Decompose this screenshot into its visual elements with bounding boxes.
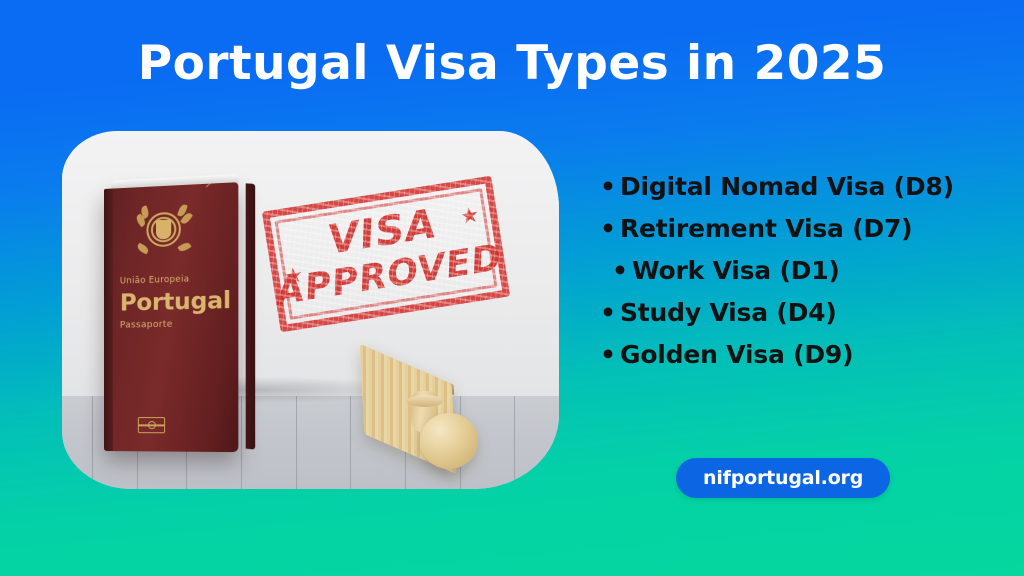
list-item-label: Work Visa (D1) bbox=[632, 256, 840, 285]
visa-types-list: •Digital Nomad Visa (D8)•Retirement Visa… bbox=[600, 172, 1000, 382]
passport-spine bbox=[104, 189, 113, 452]
list-item: •Digital Nomad Visa (D8) bbox=[600, 172, 1000, 201]
portugal-passport: União Europeia Portugal Passaporte bbox=[104, 182, 247, 452]
passport-union-label: União Europeia bbox=[120, 274, 189, 286]
bullet-dot-icon: • bbox=[612, 258, 632, 283]
passport-photo-card: União Europeia Portugal Passaporte ★ ★ V… bbox=[62, 131, 559, 489]
passport-cover: União Europeia Portugal Passaporte bbox=[104, 182, 238, 452]
passport-country-label: Portugal bbox=[120, 287, 231, 316]
infographic-canvas: Portugal Visa Types in 2025 bbox=[0, 0, 1024, 576]
list-item-label: Golden Visa (D9) bbox=[620, 340, 853, 369]
list-item: •Work Visa (D1) bbox=[600, 256, 1000, 285]
list-item-label: Retirement Visa (D7) bbox=[620, 214, 912, 243]
list-item-label: Digital Nomad Visa (D8) bbox=[620, 172, 954, 201]
stamp-collar bbox=[407, 395, 443, 407]
site-badge[interactable]: nifportugal.org bbox=[676, 458, 890, 498]
biometric-chip-icon bbox=[138, 417, 165, 433]
stamp-handle-knob bbox=[420, 413, 478, 469]
list-item: •Study Visa (D4) bbox=[600, 298, 1000, 327]
list-item: •Retirement Visa (D7) bbox=[600, 214, 1000, 243]
wooden-rubber-stamp bbox=[362, 357, 510, 469]
coat-of-arms-icon bbox=[136, 202, 191, 257]
passport-edge bbox=[246, 183, 255, 449]
list-item: •Golden Visa (D9) bbox=[600, 340, 1000, 369]
bullet-dot-icon: • bbox=[600, 342, 620, 367]
list-item-label: Study Visa (D4) bbox=[620, 298, 837, 327]
bullet-dot-icon: • bbox=[600, 174, 620, 199]
page-title: Portugal Visa Types in 2025 bbox=[0, 36, 1024, 91]
passport-doctype-label: Passaporte bbox=[120, 320, 173, 331]
bullet-dot-icon: • bbox=[600, 300, 620, 325]
bullet-dot-icon: • bbox=[600, 216, 620, 241]
